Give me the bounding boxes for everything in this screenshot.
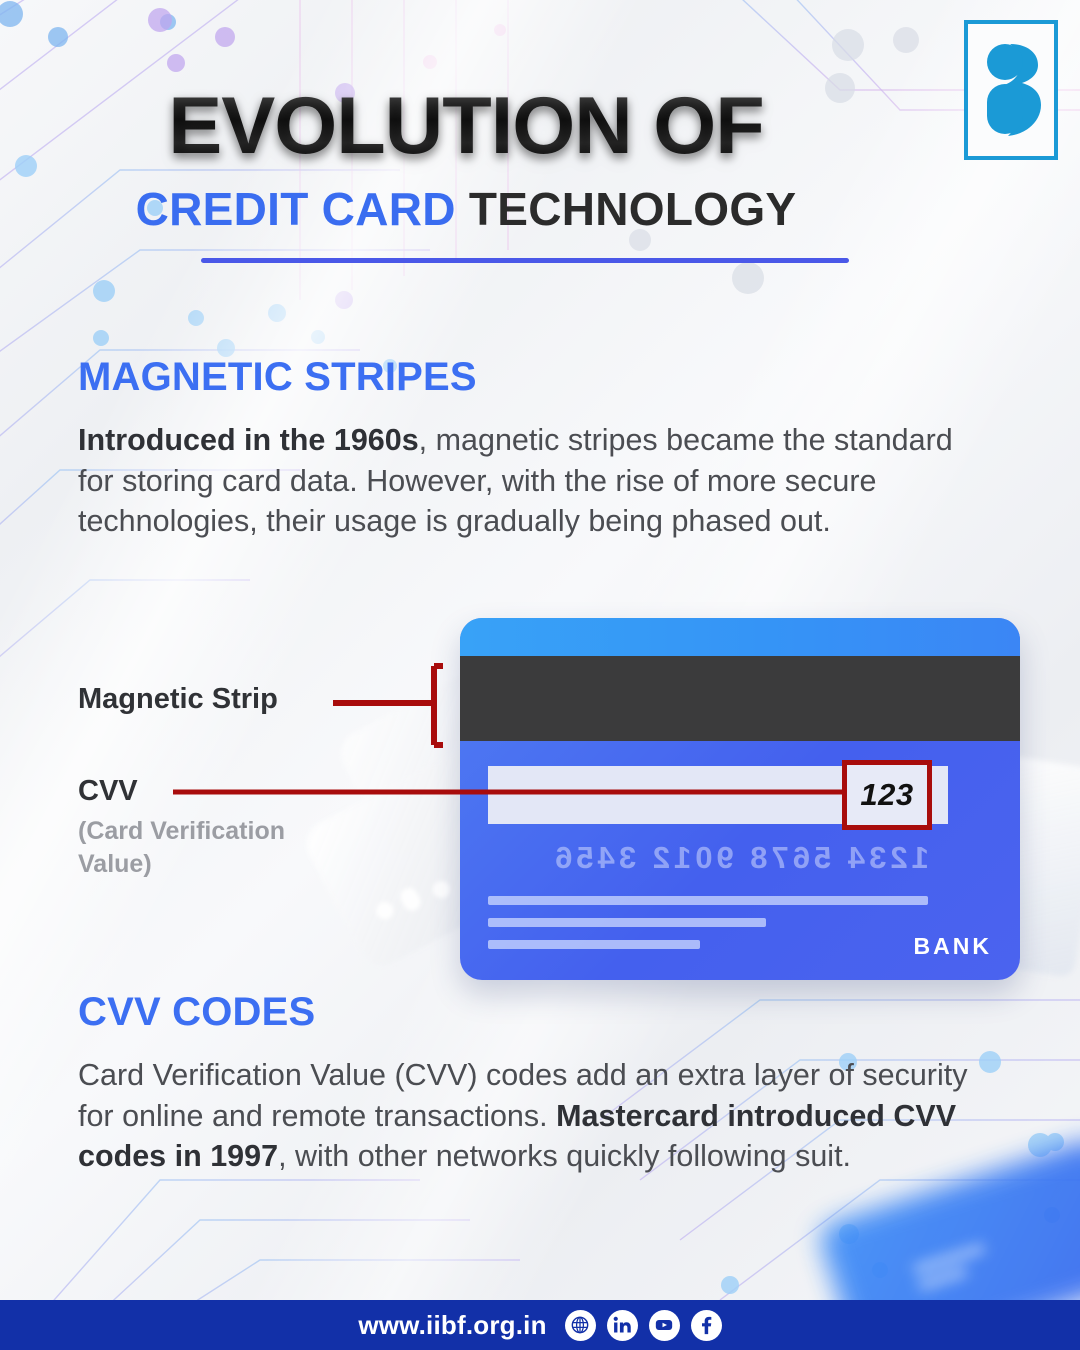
- section-heading-cvv: CVV CODES: [78, 990, 978, 1035]
- page-subtitle: CREDIT CARD TECHNOLOGY: [0, 186, 1080, 232]
- page-title: EVOLUTION OF: [0, 86, 1080, 167]
- section-body-cvv: Card Verification Value (CVV) codes add …: [78, 1055, 968, 1177]
- body-rest-cvv: , with other networks quickly following …: [278, 1139, 851, 1173]
- subtitle-accent: CREDIT CARD: [136, 183, 456, 235]
- callout-cvv-sublabel: (Card Verification Value): [78, 815, 348, 882]
- cvv-highlight-box: 123: [842, 760, 932, 830]
- card-top-band: [460, 618, 1020, 656]
- section-cvv-codes: CVV CODES Card Verification Value (CVV) …: [78, 990, 978, 1177]
- linkedin-icon[interactable]: [607, 1310, 638, 1341]
- card-placeholder-lines: [488, 896, 928, 962]
- card-bank-label: BANK: [914, 933, 992, 960]
- title-divider: [201, 258, 849, 263]
- footer-website-url[interactable]: www.iibf.org.in: [358, 1310, 546, 1341]
- infographic-poster: EVOLUTION OF CREDIT CARD TECHNOLOGY MAGN…: [0, 0, 1080, 1350]
- credit-card-back: 123 1234 5678 9012 3456 BANK: [460, 618, 1020, 980]
- card-magnetic-stripe: [460, 656, 1020, 741]
- card-number: 1234 5678 9012 3456: [460, 840, 1020, 876]
- callout-magnetic-strip-label: Magnetic Strip: [78, 683, 278, 716]
- cvv-value: 123: [860, 777, 913, 813]
- facebook-icon[interactable]: [691, 1310, 722, 1341]
- youtube-icon[interactable]: [649, 1310, 680, 1341]
- social-links: [565, 1310, 722, 1341]
- callout-cvv-label: CVV: [78, 775, 138, 808]
- globe-icon[interactable]: [565, 1310, 596, 1341]
- body-bold-magnetic: Introduced in the 1960s: [78, 423, 419, 457]
- footer-bar: www.iibf.org.in: [0, 1300, 1080, 1350]
- section-body-magnetic: Introduced in the 1960s, magnetic stripe…: [78, 420, 958, 542]
- section-heading-magnetic: MAGNETIC STRIPES: [78, 355, 978, 400]
- credit-card-illustration: 123 1234 5678 9012 3456 BANK: [460, 618, 1020, 980]
- section-magnetic-stripes: MAGNETIC STRIPES Introduced in the 1960s…: [78, 355, 978, 542]
- subtitle-rest: TECHNOLOGY: [456, 183, 797, 235]
